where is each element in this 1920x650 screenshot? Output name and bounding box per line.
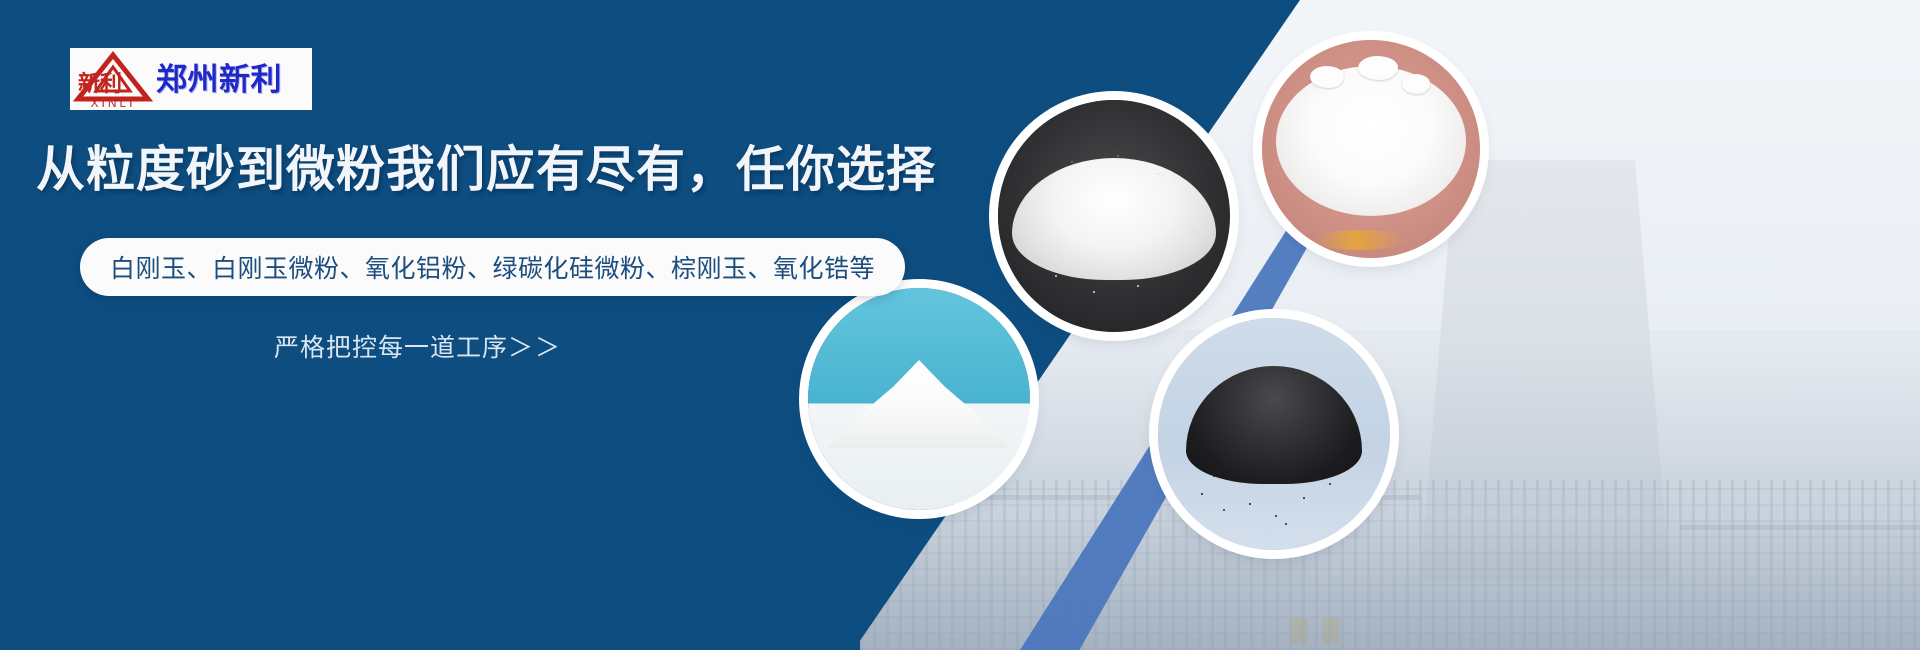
product-circle-black-silicon-carbide <box>1158 318 1390 550</box>
tagline-cta[interactable]: 严格把控每一道工序＞＞ <box>274 328 562 364</box>
powder-chunk-2 <box>1358 56 1398 80</box>
product-circle-alumina-powder-mound <box>808 288 1030 510</box>
grain-speckles <box>1158 318 1390 550</box>
logo-mark-cn: 新利 <box>78 71 122 96</box>
powder-chunk-1 <box>1310 66 1344 88</box>
product-circle-white-alumina-micropowder <box>1262 40 1480 258</box>
powder-chunk-3 <box>1402 74 1430 94</box>
product-list-text: 白刚玉、白刚玉微粉、氧化铝粉、绿碳化硅微粉、棕刚玉、氧化锆等 <box>110 249 875 285</box>
tagline-text: 严格把控每一道工序 <box>274 334 508 362</box>
company-logo[interactable]: 新利 XINLI 郑州新利 <box>70 48 312 110</box>
chevron-right-icon: ＞＞ <box>508 334 562 362</box>
company-name: 郑州新利 <box>156 64 282 95</box>
promo-banner: 新利 XINLI 郑州新利 从粒度砂到微粉我们应有尽有，任你选择 白刚玉、白刚玉… <box>0 0 1920 650</box>
tray-gold-reflection <box>1314 230 1406 250</box>
headline: 从粒度砂到微粉我们应有尽有，任你选择 <box>36 146 936 195</box>
xinli-triangle-icon: 新利 XINLI <box>70 49 156 109</box>
product-list-pill: 白刚玉、白刚玉微粉、氧化铝粉、绿碳化硅微粉、棕刚玉、氧化锆等 <box>80 238 905 296</box>
grain-speckles <box>998 100 1230 332</box>
material-mound <box>828 360 1010 448</box>
logo-mark-en: XINLI <box>90 96 135 109</box>
material-mound <box>1276 66 1466 216</box>
product-circle-white-fused-alumina-sand <box>998 100 1230 332</box>
